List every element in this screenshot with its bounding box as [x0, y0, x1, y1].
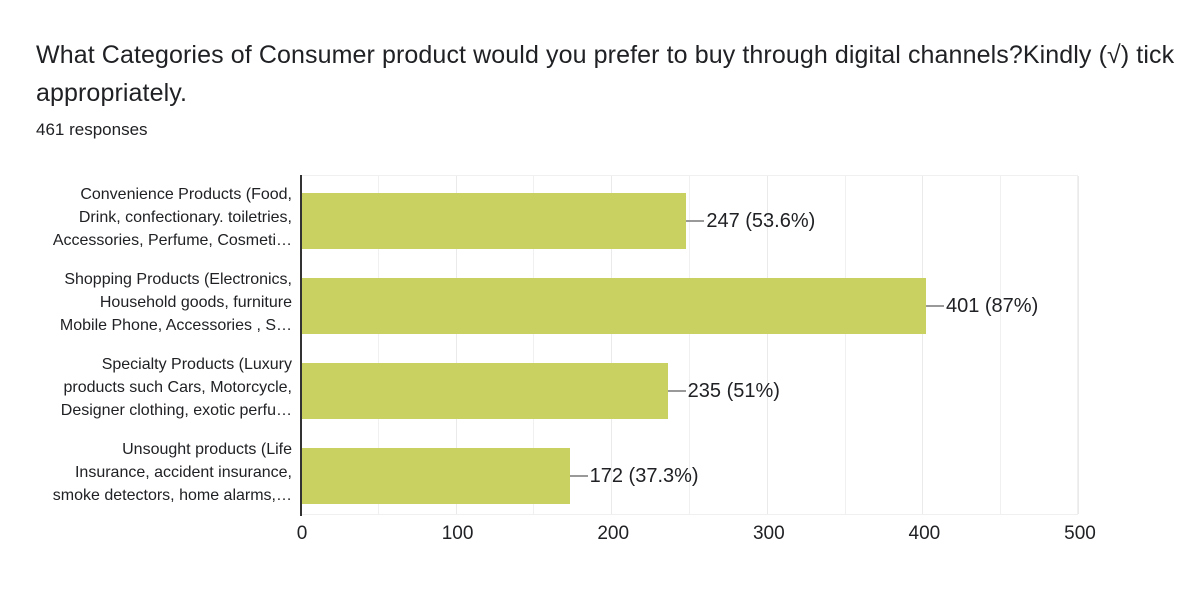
- bar-value-label: 172 (37.3%): [590, 463, 699, 489]
- response-count-label: 461 responses: [36, 118, 148, 142]
- bar-row[interactable]: 235 (51%): [302, 345, 1080, 430]
- y-axis-label-line: products such Cars, Motorcycle,: [0, 376, 292, 399]
- bar-label-connector: [926, 305, 944, 307]
- bar-row[interactable]: 401 (87%): [302, 260, 1080, 345]
- y-axis-label: Specialty Products (Luxuryproducts such …: [0, 353, 296, 422]
- bar-value-label: 247 (53.6%): [706, 208, 815, 234]
- bar-value-label: 235 (51%): [688, 378, 780, 404]
- x-axis-tick-300: 300: [753, 520, 785, 548]
- y-axis-label: Shopping Products (Electronics,Household…: [0, 268, 296, 337]
- bar-row[interactable]: 172 (37.3%): [302, 430, 1080, 515]
- y-axis-label-line: Specialty Products (Luxury: [0, 353, 292, 376]
- y-axis-label-line: Shopping Products (Electronics,: [0, 268, 292, 291]
- x-axis-tick-100: 100: [442, 520, 474, 548]
- y-axis-label-line: Unsought products (Life: [0, 438, 292, 461]
- form-response-card: What Categories of Consumer product woul…: [0, 0, 1200, 609]
- y-axis-label: Convenience Products (Food,Drink, confec…: [0, 183, 296, 252]
- bar-label-connector: [570, 475, 588, 477]
- bar-row[interactable]: 247 (53.6%): [302, 175, 1080, 260]
- y-axis-label-line: Drink, confectionary. toiletries,: [0, 206, 292, 229]
- x-axis-tick-200: 200: [597, 520, 629, 548]
- x-axis-tick-500: 500: [1064, 520, 1096, 548]
- bar-series: 247 (53.6%)401 (87%)235 (51%)172 (37.3%): [302, 175, 1080, 515]
- x-axis-tick-0: 0: [297, 520, 308, 548]
- bar[interactable]: [302, 278, 926, 334]
- y-axis-label: Unsought products (LifeInsurance, accide…: [0, 438, 296, 507]
- bar[interactable]: [302, 363, 668, 419]
- bar[interactable]: [302, 193, 686, 249]
- y-axis-label-line: Designer clothing, exotic perfu…: [0, 399, 292, 422]
- y-axis-label-line: Insurance, accident insurance,: [0, 461, 292, 484]
- bar[interactable]: [302, 448, 570, 504]
- bar-chart: Convenience Products (Food,Drink, confec…: [0, 168, 1200, 568]
- y-axis-label-line: Mobile Phone, Accessories , S…: [0, 314, 292, 337]
- bar-label-connector: [686, 220, 704, 222]
- bar-value-label: 401 (87%): [946, 293, 1038, 319]
- x-axis-tick-labels: 0100200300400500: [0, 520, 1200, 560]
- y-axis-label-line: Accessories, Perfume, Cosmeti…: [0, 229, 292, 252]
- bar-label-connector: [668, 390, 686, 392]
- x-axis-tick-400: 400: [909, 520, 941, 548]
- y-axis-label-line: Convenience Products (Food,: [0, 183, 292, 206]
- y-axis-label-line: smoke detectors, home alarms,…: [0, 484, 292, 507]
- y-axis-category-labels: Convenience Products (Food,Drink, confec…: [0, 175, 296, 515]
- y-axis-label-line: Household goods, furniture: [0, 291, 292, 314]
- page-title: What Categories of Consumer product woul…: [36, 36, 1176, 112]
